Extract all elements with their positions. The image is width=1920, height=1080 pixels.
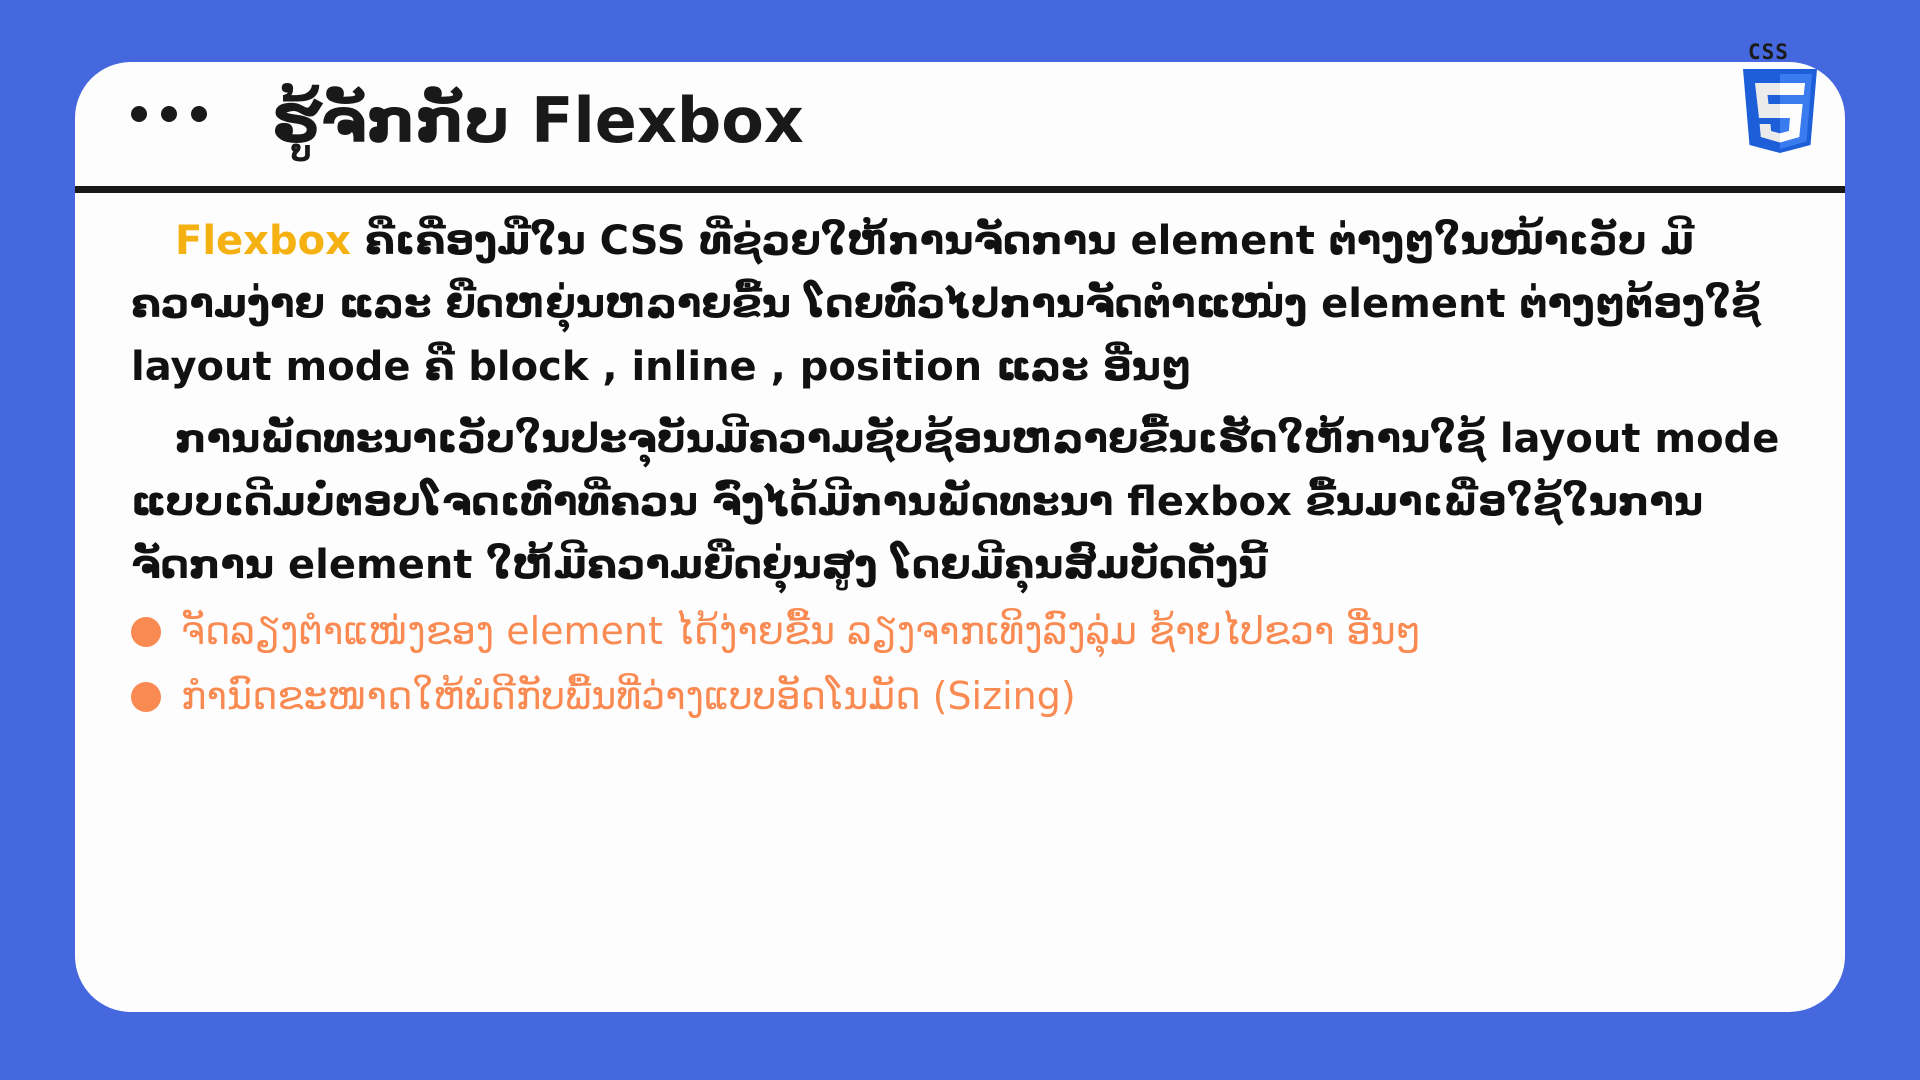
menu-dot-3: [191, 106, 207, 122]
paragraph-1-text: ຄືເຄື່ອງມືໃນ CSS ທີ່ຊ່ວຍໃຫ້ການຈັດການ ele…: [131, 218, 1761, 390]
content-card: ຮູ້ຈັກກັບ Flexbox Flexbox ຄືເຄື່ອງມືໃນ C…: [75, 62, 1845, 1012]
paragraph-2: ການພັດທະນາເວັບໃນປະຈຸບັນມີຄວາມຊັບຊ້ອນຫລາຍ…: [131, 408, 1805, 598]
css3-logo: CSS: [1738, 42, 1820, 152]
bullet-dot-icon: [131, 617, 161, 647]
feature-list: ຈັດລຽງຕຳແໜ່ງຂອງ element ໄດ້ງ່າຍຂື້ນ ລຽງຈ…: [131, 603, 1805, 725]
slide-body: Flexbox ຄືເຄື່ອງມືໃນ CSS ທີ່ຊ່ວຍໃຫ້ການຈັ…: [131, 210, 1805, 733]
flexbox-highlight: Flexbox: [175, 218, 351, 264]
css3-shield-icon: [1741, 69, 1819, 153]
card-header: ຮູ້ຈັກກັບ Flexbox: [75, 62, 1845, 188]
bullet-dot-icon: [131, 682, 161, 712]
list-item-label: ຈັດລຽງຕຳແໜ່ງຂອງ element ໄດ້ງ່າຍຂື້ນ ລຽງຈ…: [181, 603, 1421, 660]
page-title: ຮູ້ຈັກກັບ Flexbox: [272, 82, 804, 160]
menu-dots-icon[interactable]: [131, 106, 207, 122]
list-item: ກຳນົດຂະໜາດໃຫ້ພໍດີກັບພື້ນທີ່ວ່າງແບບອັດໂນມ…: [131, 668, 1805, 725]
css-wordmark: CSS: [1748, 42, 1789, 63]
menu-dot-2: [161, 106, 177, 122]
slide-root: ຮູ້ຈັກກັບ Flexbox Flexbox ຄືເຄື່ອງມືໃນ C…: [0, 0, 1920, 1080]
menu-dot-1: [131, 106, 147, 122]
paragraph-1: Flexbox ຄືເຄື່ອງມືໃນ CSS ທີ່ຊ່ວຍໃຫ້ການຈັ…: [131, 210, 1805, 400]
list-item-label: ກຳນົດຂະໜາດໃຫ້ພໍດີກັບພື້ນທີ່ວ່າງແບບອັດໂນມ…: [181, 668, 1076, 725]
list-item: ຈັດລຽງຕຳແໜ່ງຂອງ element ໄດ້ງ່າຍຂື້ນ ລຽງຈ…: [131, 603, 1805, 660]
header-divider: [75, 186, 1845, 193]
